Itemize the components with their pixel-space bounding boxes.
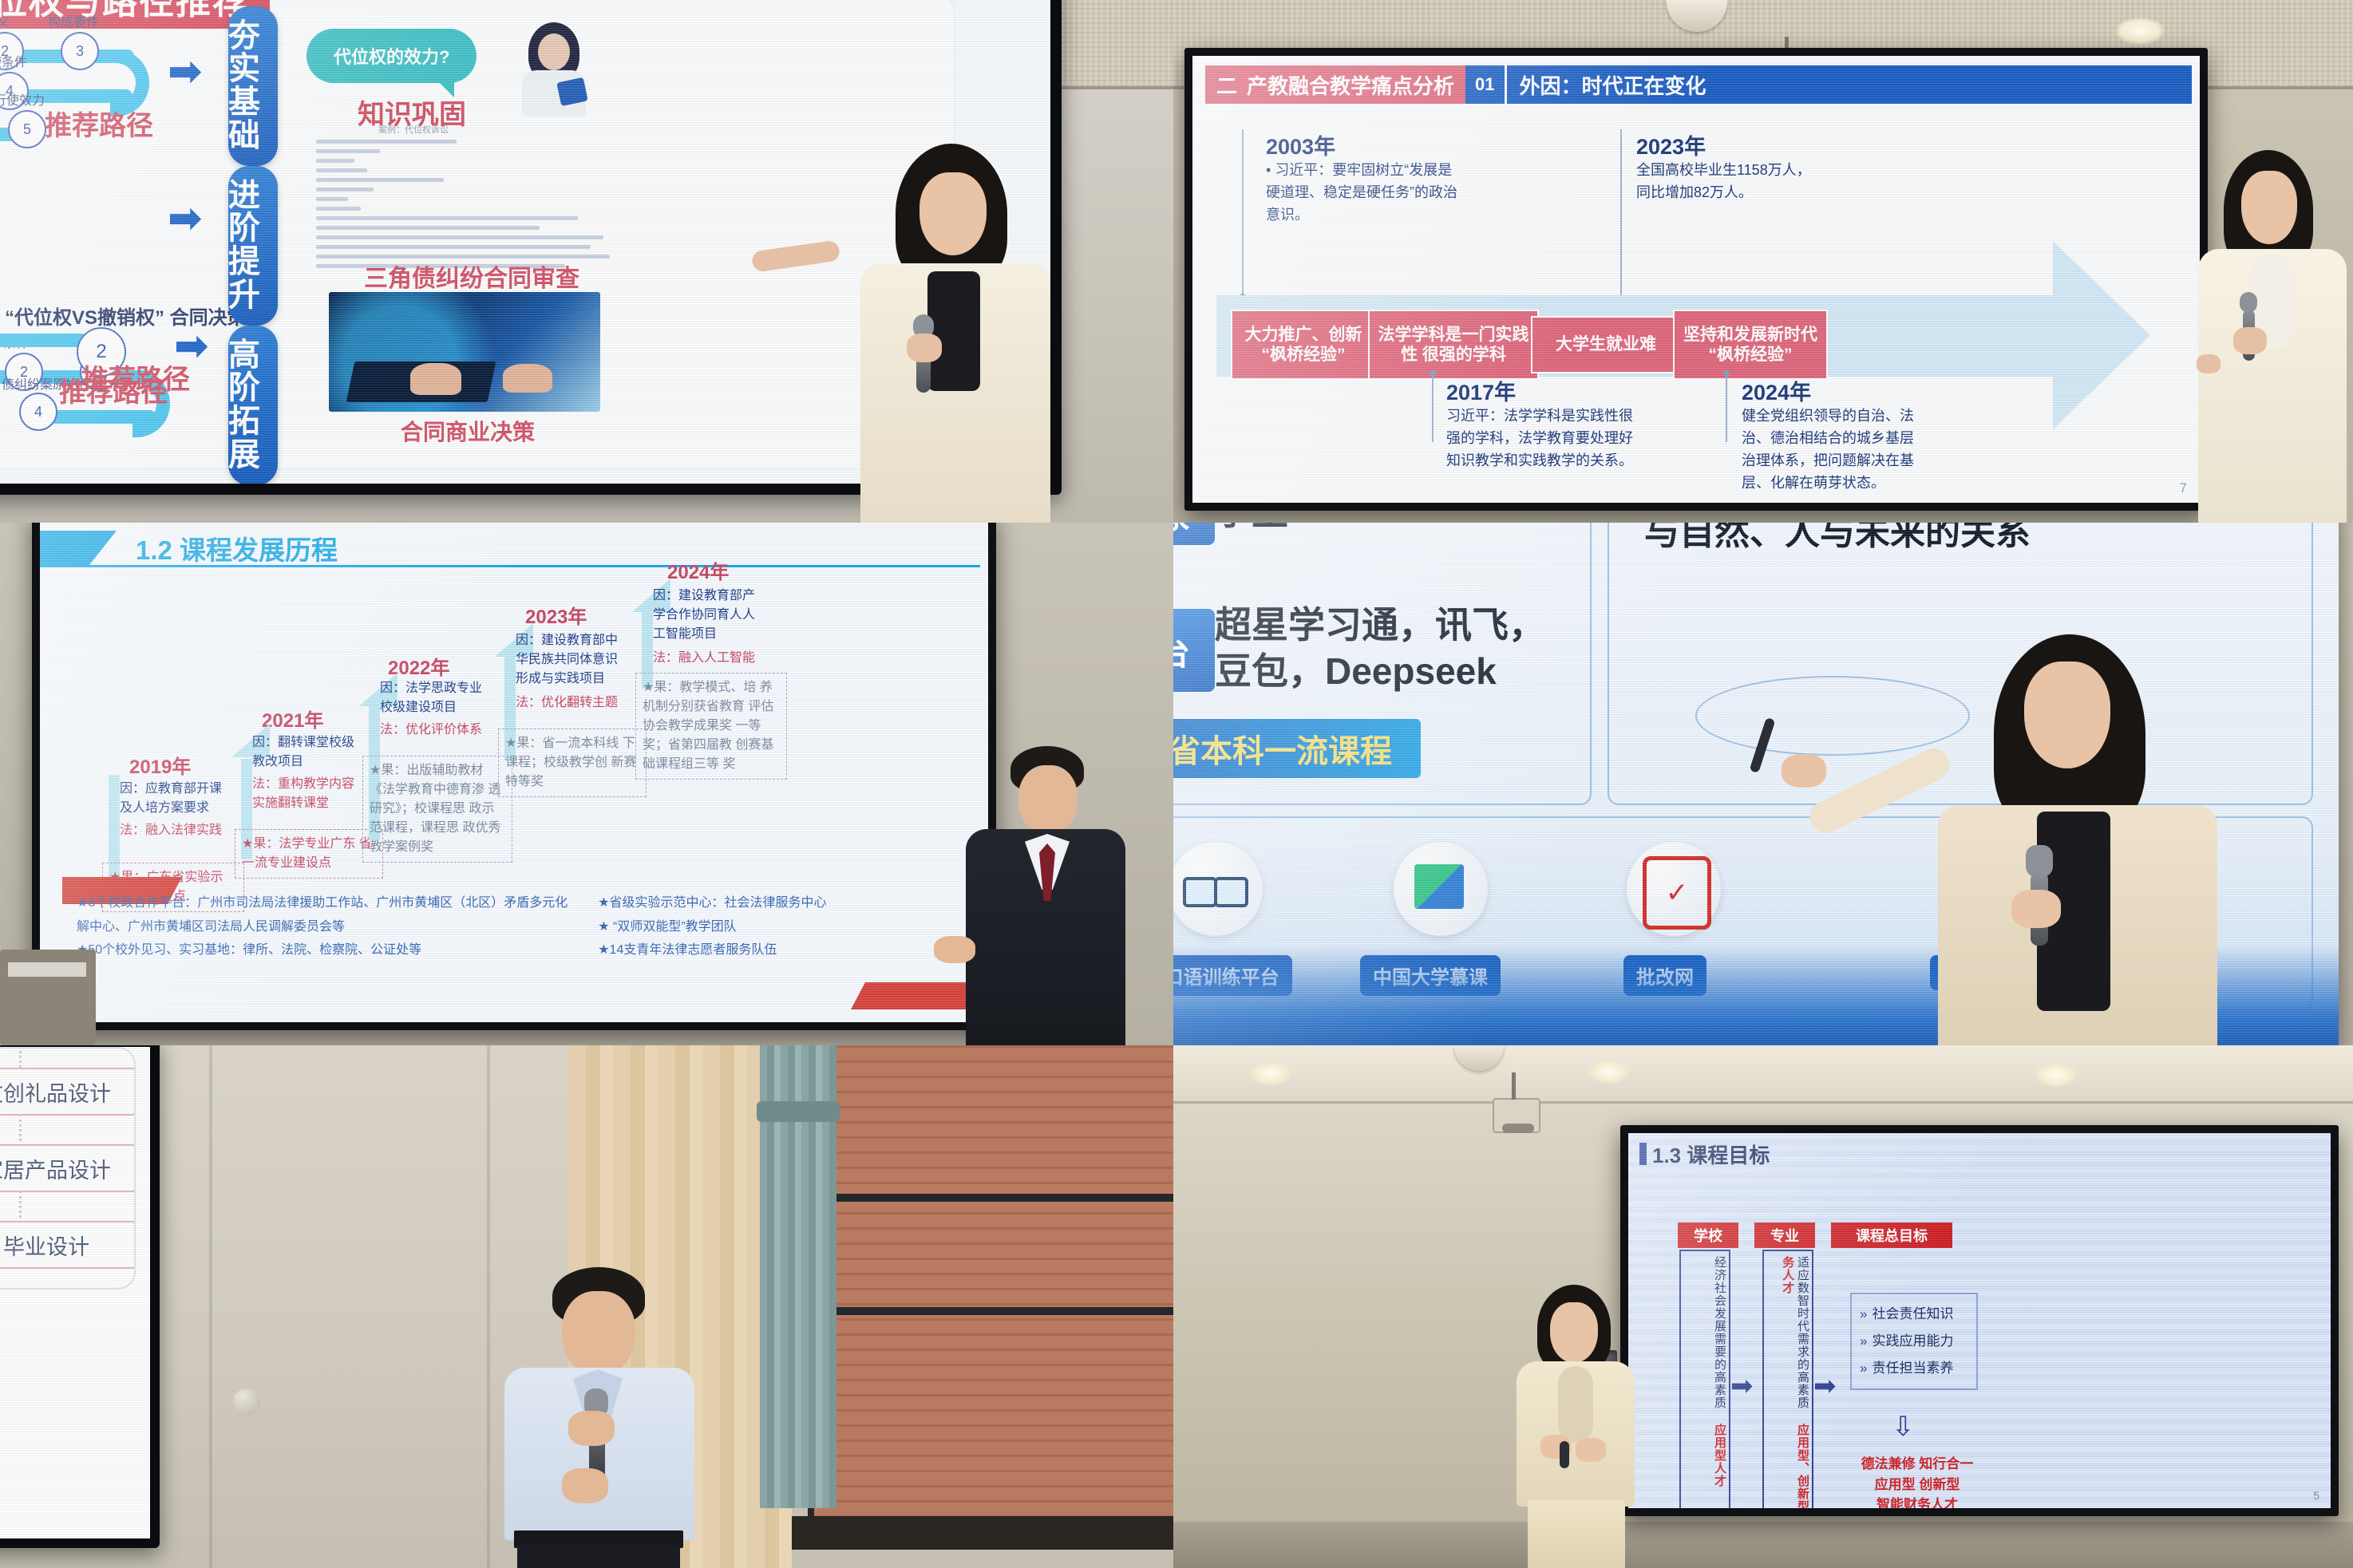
arrow-right-icon: ➡ (168, 198, 203, 239)
baseboard (1173, 1522, 2353, 1568)
slide-content: 1.3 课程目标 学校 专业 课程总目标 经济社会发展需要的高素质 应用型人才 … (1628, 1133, 2331, 1508)
panel-6-course-goal-slide: 1.3 课程目标 学校 专业 课程总目标 经济社会发展需要的高素质 应用型人才 … (1173, 1045, 2353, 1568)
flow-reco-label: 推荐路径 (45, 104, 153, 143)
right-text: 人与自我、人与社会、人 与自然、人与未来的关系 (1644, 523, 2031, 555)
footer-item: ★50个校外见习、实习基地：律所、法院、检察院、公证处等 (77, 938, 578, 962)
step-result: ★果：省一流本科线 下课程；校级教学创 新赛特等奖 (498, 729, 647, 797)
step-cause: 因：建设教育部中 华民族共同体意识 形成与实践项目 (516, 631, 640, 689)
step-year: 2024年 (667, 556, 729, 584)
flow-node-label: 行使效力 (0, 89, 45, 109)
laptop-photo (329, 292, 600, 412)
panel-1-subrogation-slide: 代位权与路径推荐 1 代位权 2 定义 3 构成要件 (0, 0, 1173, 523)
section-title: 产教融合教学痛点分析 (1247, 70, 1454, 100)
stage-banner-2: 进阶提升 (228, 166, 278, 326)
presenter-person (2189, 150, 2353, 523)
pain-point-box: 大力推广、创新 “枫桥经验” (1231, 310, 1376, 380)
footer-left: ★8个校政合作平台：广州市司法局法律援助工作站、广州市黄埔区（北区）矛盾多元化解… (77, 891, 578, 962)
goal-item: 责任担当素养 (1872, 1361, 1953, 1376)
podium-top (8, 962, 86, 977)
panel-3-course-history-slide: 1.2 课程发展历程 2019年 因：应教育部开课 及人培方案要求 法：融入法律… (0, 523, 1173, 1045)
column-major: 适应数智时代需求的高素质 应用型、创新型财务人才 (1762, 1250, 1813, 1508)
timeline-tick (1432, 373, 1434, 442)
arrow-right-icon: ➡ (1730, 1372, 1754, 1400)
window-sill (792, 1516, 1173, 1550)
flow-node: 4 (19, 393, 57, 431)
footer-item: ★ “双师双能型”教学团队 (598, 915, 956, 939)
page-number: 7 (2180, 480, 2187, 496)
timeline-tick (1242, 129, 1244, 297)
panel-2-pain-point-slide: 二 产教融合教学痛点分析 01 外因：时代正在变化 2003年 • 习近平：要牢… (1173, 0, 2353, 523)
projector-mount (1493, 1098, 1540, 1133)
section-label: 二 产教融合教学痛点分析 (1205, 65, 1465, 104)
speech-bubble: 代位权的效力? (306, 29, 477, 83)
timeline-year: 2017年 (1446, 375, 1516, 406)
item-title: 外因：时代正在变化 (1505, 65, 2192, 104)
footer-item: ★省级实验示范中心：社会法律服务中心 (598, 891, 956, 915)
pain-point-box: 法学学科是一门实践性 很强的学科 (1368, 310, 1539, 380)
step-method: 法：融入人工智能 (653, 649, 797, 668)
goal-item: 实践应用能力 (1872, 1333, 1953, 1349)
step-cause: 因：建设教育部产 学合作协同育人人 工智能项目 (653, 587, 781, 644)
section-number: 二 (1216, 70, 1237, 100)
pain-point-box: 大学生就业难 (1531, 316, 1681, 373)
column-text: 适应数智时代需求的高素质 (1796, 1256, 1809, 1409)
footer-item: ★8个校政合作平台：广州市司法局法律援助工作站、广州市黄埔区（北区）矛盾多元化解… (77, 891, 578, 938)
step-year: 2021年 (262, 705, 323, 733)
left-panel-frame (1173, 523, 1592, 805)
slide-title: 1.2 课程发展历程 (136, 529, 338, 567)
projection-screen: 二 产教融合教学痛点分析 01 外因：时代正在变化 2003年 • 习近平：要牢… (1184, 48, 2208, 511)
stage-banner-text: 进阶提升 (228, 180, 278, 312)
slide-title: 1.3 课程目标 (1652, 1139, 1770, 1169)
page-number: 5 (2313, 1489, 2319, 1502)
projection-screen: 1.2 课程发展历程 2019年 因：应教育部开课 及人培方案要求 法：融入法律… (32, 523, 996, 1030)
arrow-right-icon: ➡ (168, 51, 203, 93)
window (808, 1045, 1173, 1537)
door-lock (233, 1388, 260, 1416)
title-accent (1639, 1143, 1647, 1165)
avatar (517, 22, 591, 117)
slide-header: 二 产教融合教学痛点分析 01 外因：时代正在变化 (1205, 65, 2192, 104)
flow-node: 5 (8, 110, 46, 148)
photo-collage: 代位权与路径推荐 1 代位权 2 定义 3 构成要件 (0, 0, 2353, 1568)
timeline-year: 2003年 (1266, 129, 1335, 160)
arrow-right-icon: ➡ (1813, 1372, 1837, 1400)
goal-box: »社会责任知识 »实践应用能力 »责任担当素养 (1850, 1293, 1978, 1390)
step-cause: 因：法学思政专业 校级建设项目 (380, 679, 504, 717)
step-cause: 因：应教育部开课 及人培方案要求 (120, 780, 244, 818)
timeline-body: 全国高校毕业生1158万人，同比增加82万人。 (1636, 160, 1820, 204)
step-year: 2019年 (129, 751, 191, 779)
slide-card: 代位权与路径推荐 1 代位权 2 定义 3 构成要件 (0, 0, 955, 469)
projection-screen: 1.3 课程目标 学校 专业 课程总目标 经济社会发展需要的高素质 应用型人才 … (1620, 1125, 2339, 1516)
flow-node-label: 定义 (0, 11, 10, 30)
tv-display: 文创礼品设计 ⇢ 家居产品设计 ⇢ 毕业设计 ⇢ 传承创新 ⇣ …人才。 价值引… (0, 1045, 160, 1548)
app-icon-wrap: ✓ (1627, 842, 1721, 936)
timeline-year: 2023年 (1636, 129, 1706, 160)
glasses-icon (1183, 877, 1248, 910)
slide-content: 1.2 课程发展历程 2019年 因：应教育部开课 及人培方案要求 法：融入法律… (40, 523, 988, 1022)
step-result: ★果：教学模式、培 养机制分别获省教育 评估协会教学成果奖 一等奖；省第四届教 … (635, 673, 787, 780)
timeline-body: 健全党组织领导的自治、法治、德治相结合的城乡基层治理体系，把问题解决在基层、化解… (1742, 405, 1924, 495)
stage-banner-text: 高阶拓展 (228, 339, 278, 472)
column-school: 经济社会发展需要的高素质 应用型人才 (1679, 1250, 1730, 1508)
stamp-icon: ✓ (1643, 856, 1711, 930)
timeline-tick (1726, 373, 1727, 442)
footer-right: ★省级实验示范中心：社会法律服务中心 ★ “双师双能型”教学团队 ★14支青年法… (598, 891, 956, 962)
stage-banner-1: 夯实基础 (228, 6, 278, 166)
column-text-highlight: 应用型人才 (1713, 1424, 1726, 1487)
presenter-person (942, 746, 1149, 1045)
step-result: ★果：出版辅助教材 《法学教育中德育渗 透研究》；校课程思 政示范课程，课程思 … (362, 756, 512, 863)
presenter-person (822, 144, 1086, 523)
document-preview (316, 134, 635, 278)
footer-item: ★14支青年法律志愿者服务队伍 (598, 938, 956, 962)
flow-node-label: 构成要件 (48, 11, 99, 30)
presenter-person (1892, 634, 2275, 1045)
process-arrow-head (2053, 241, 2150, 429)
right-heading-2: 三角债纠纷合同审查 (364, 259, 579, 294)
slide-content: 文创礼品设计 ⇢ 家居产品设计 ⇢ 毕业设计 ⇢ 传承创新 ⇣ …人才。 价值引… (0, 1047, 150, 1538)
pain-point-box: 坚持和发展新时代 “枫桥经验” (1673, 310, 1828, 380)
goal-item: 社会责任知识 (1872, 1306, 1953, 1321)
arrow-down-icon: ⇩ (1892, 1411, 1915, 1443)
group-frame (0, 1047, 136, 1290)
app-icon-wrap (1394, 842, 1488, 936)
step-year: 2023年 (525, 601, 587, 629)
flow-heading: “代位权VS撤销权” 合同决策 (5, 302, 247, 330)
timeline-tick (1620, 129, 1622, 298)
step-cause: 因：翻转课堂校级 教改项目 (252, 733, 377, 772)
item-number: 01 (1465, 65, 1504, 104)
ceiling (1173, 1045, 2353, 1104)
tag-course-goal: 课程总目标 (1831, 1222, 1952, 1248)
flow-node: 3 (61, 32, 99, 70)
step-result: ★果：法学专业广东 省一流专业建设点 (235, 829, 383, 879)
timeline-body: • 习近平：要牢固树立“发展是硬道理、稳定是硬任务”的政治意识。 (1266, 160, 1465, 227)
tag-school: 学校 (1678, 1222, 1738, 1248)
stage-banner-text: 夯实基础 (228, 20, 278, 152)
column-text: 经济社会发展需要的高素质 (1713, 1256, 1726, 1409)
presenter-person (468, 1267, 731, 1568)
slide-footer: ★8个校政合作平台：广州市司法局法律援助工作站、广州市黄埔区（北区）矛盾多元化解… (69, 887, 964, 998)
timeline-body: 习近平：法学学科是实践性很强的学科，法学教育要处理好知识教学和实践教学的关系。 (1446, 405, 1646, 472)
summary-text: 德法兼修 知行合一 应用型 创新型 智能财务人才 (1845, 1454, 1989, 1508)
panel-4-platform-slide: 对象 学生 平台 超星学习通，讯飞， 豆包，Deepseek 广东省本科一流课程… (1173, 523, 2353, 1045)
presenter-person (1493, 1285, 1652, 1568)
arrow-right-icon: ➡ (174, 326, 209, 367)
tag-major: 专业 (1754, 1222, 1815, 1248)
curtain-tieback (757, 1101, 840, 1122)
right-heading-3: 合同商业决策 (401, 415, 535, 447)
panel-5-design-flow-slide: 文创礼品设计 ⇢ 家居产品设计 ⇢ 毕业设计 ⇢ 传承创新 ⇣ …人才。 价值引… (0, 1045, 1173, 1568)
book-icon (1414, 864, 1464, 909)
stage-banner-3: 高阶拓展 (228, 326, 278, 484)
flow-node-label: 行使条件 (0, 51, 27, 70)
timeline-year: 2024年 (1742, 375, 1811, 406)
slide-content: 二 产教融合教学痛点分析 01 外因：时代正在变化 2003年 • 习近平：要牢… (1192, 56, 2200, 503)
